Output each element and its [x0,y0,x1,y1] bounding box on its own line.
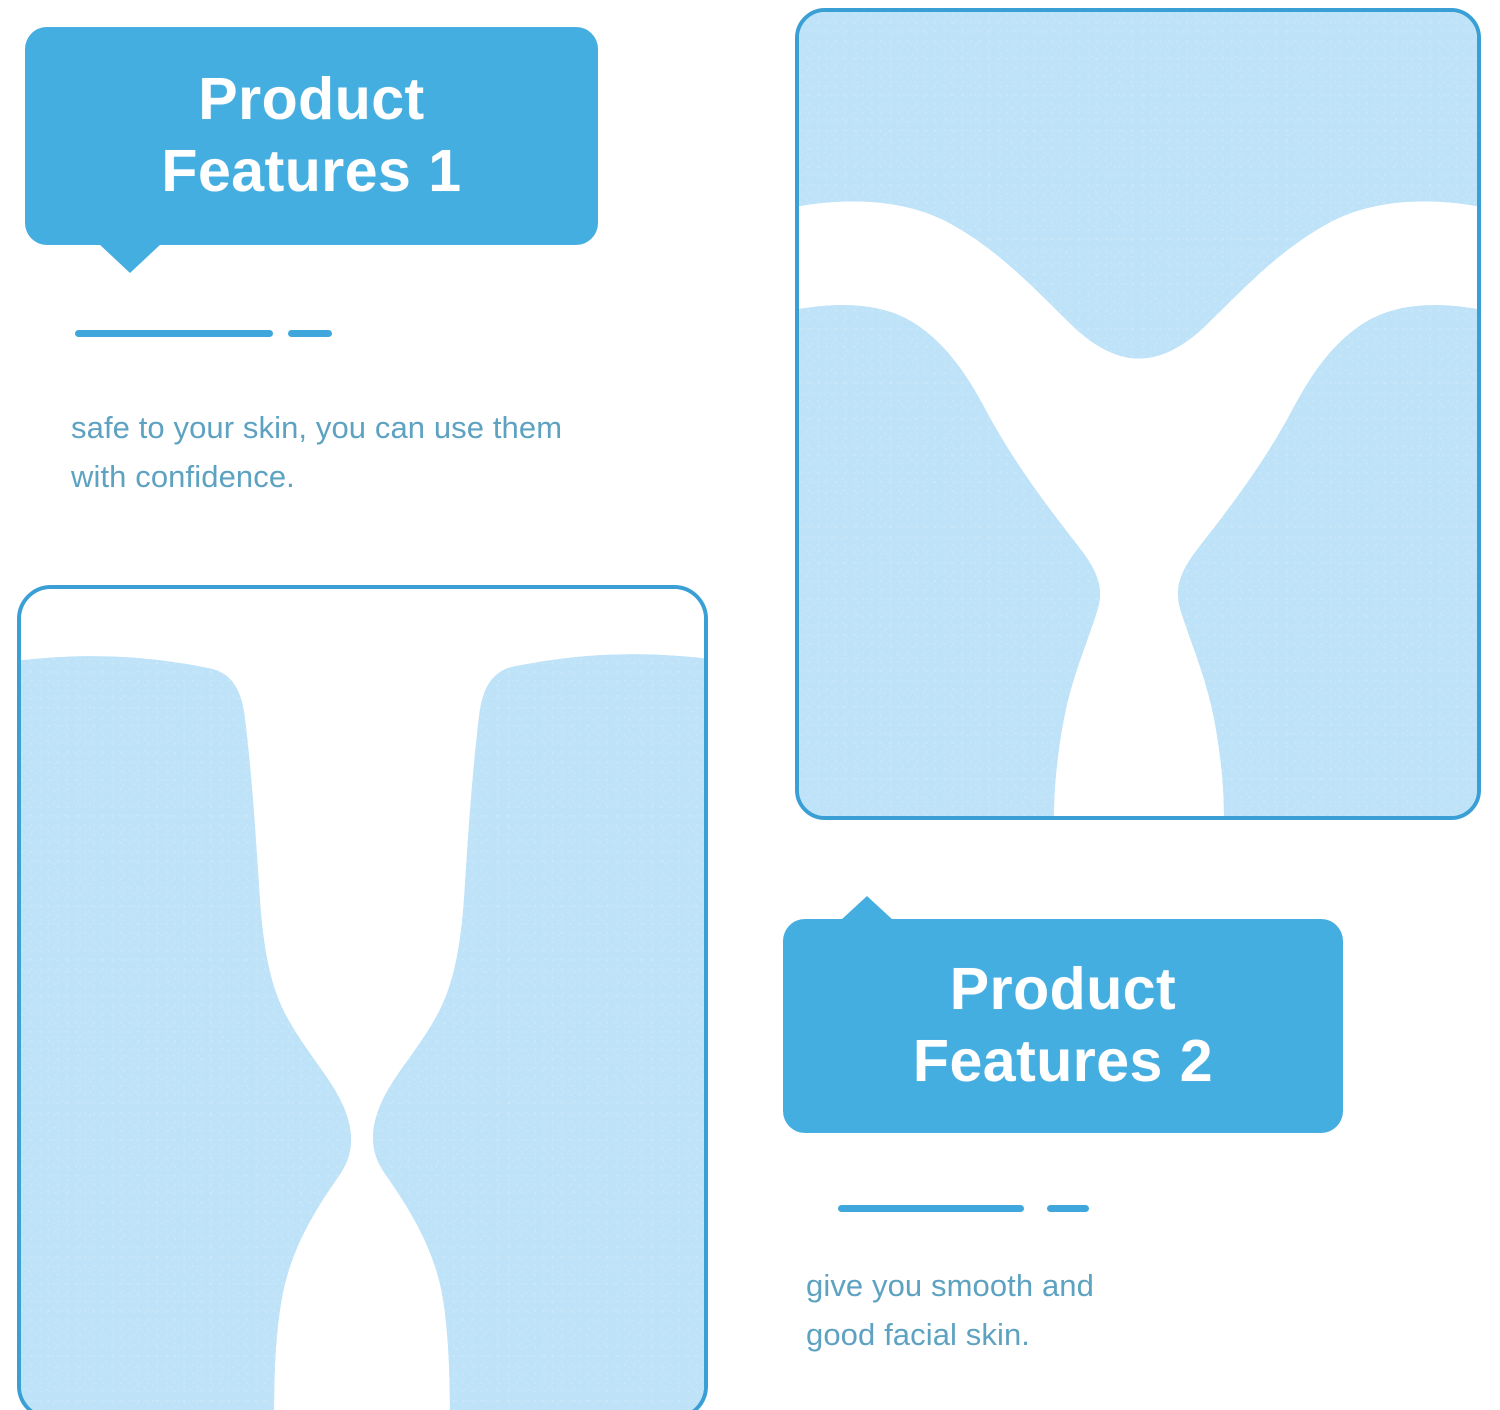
feature-1-title-text: Product Features 1 [161,64,461,208]
infographic-page: Product Features 1 safe to your skin, yo… [0,0,1500,1410]
feature-1-product-photo [17,585,708,1410]
feature-2-bubble-tail-icon [841,896,893,920]
feature-2-divider-short-dash [1047,1205,1089,1212]
t-strip-shape-icon [21,589,704,1410]
feature-2-title-bubble: Product Features 2 [783,919,1343,1133]
feature-2-title-text: Product Features 2 [913,954,1213,1098]
feature-2-divider-long-rule [838,1205,1024,1212]
x-strip-shape-icon [799,12,1477,816]
feature-1-divider-short-dash [288,330,332,337]
feature-2-description: give you smooth and good facial skin. [806,1262,1326,1360]
feature-1-bubble-tail-icon [98,243,162,273]
feature-2-product-photo [795,8,1481,820]
feature-1-description: safe to your skin, you can use them with… [71,404,681,502]
feature-1-divider-long-rule [75,330,273,337]
feature-1-title-bubble: Product Features 1 [25,27,598,245]
